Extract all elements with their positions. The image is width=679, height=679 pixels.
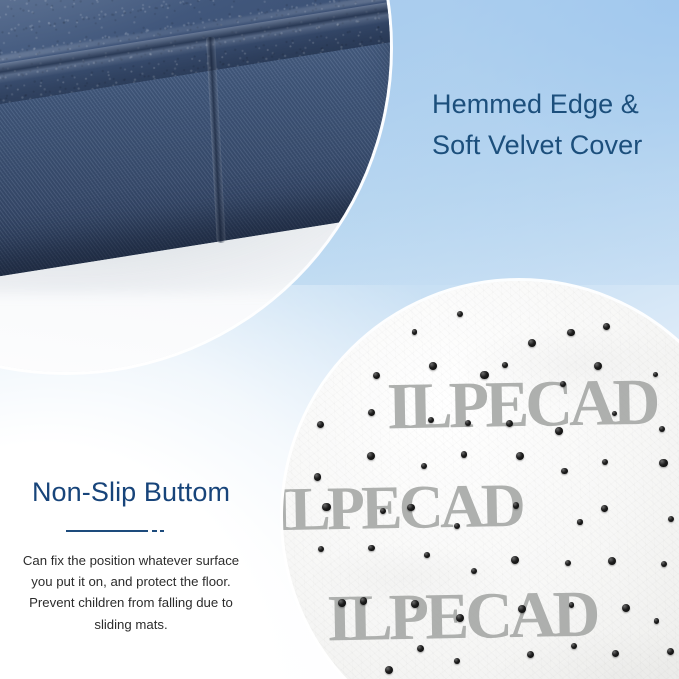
grip-dot: [367, 452, 375, 460]
description-line: Can fix the position whatever surface: [0, 550, 262, 571]
grip-dot: [661, 561, 667, 567]
feature-headline-hemmed-edge: Hemmed Edge & Soft Velvet Cover: [432, 84, 679, 166]
mat-watermark-logo: ILPECAD: [283, 471, 523, 546]
grip-dot: [314, 473, 322, 481]
panel-description: Can fix the position whatever surface yo…: [0, 550, 262, 636]
divider-line: [66, 530, 148, 532]
grip-dot: [338, 599, 346, 607]
grip-dot: [513, 502, 519, 508]
grip-dot: [471, 568, 477, 574]
grip-dot: [421, 463, 427, 469]
grip-dot: [667, 648, 674, 655]
grip-dot: [368, 545, 375, 552]
grip-dot: [480, 371, 488, 379]
grip-dot: [461, 451, 467, 457]
product-feature-panel: ILPECAD ILPECAD ILPECAD Hemmed Edge & So…: [0, 0, 679, 679]
grip-dot: [567, 329, 574, 336]
grip-dot: [454, 658, 460, 664]
grip-dot: [456, 614, 464, 622]
divider: [0, 521, 262, 543]
grip-dot: [454, 523, 460, 529]
grip-dot: [322, 503, 330, 511]
description-line: you put it on, and protect the floor.: [0, 571, 262, 592]
grip-dot: [577, 519, 583, 525]
grip-dot: [569, 602, 575, 608]
grip-dot: [659, 426, 665, 432]
grip-dot: [465, 420, 471, 426]
panel-title: Non-Slip Buttom: [0, 478, 262, 508]
divider-dash: [152, 530, 157, 532]
headline-line-1: Hemmed Edge &: [432, 84, 679, 125]
grip-dot: [571, 643, 577, 649]
grip-dot: [424, 552, 430, 558]
description-line: Prevent children from falling due to: [0, 592, 262, 613]
headline-line-2: Soft Velvet Cover: [432, 125, 679, 166]
grip-dot: [502, 362, 508, 368]
divider-dash: [160, 530, 164, 532]
grip-dot: [518, 605, 526, 613]
non-slip-mat-photo: ILPECAD ILPECAD ILPECAD: [283, 281, 679, 679]
grip-dot: [601, 505, 608, 512]
grip-dot: [373, 372, 380, 379]
grip-dot: [603, 323, 610, 330]
grip-dot: [511, 556, 519, 564]
grip-dot: [528, 339, 536, 347]
grip-dot: [429, 362, 437, 370]
grip-dot: [555, 427, 563, 435]
grip-dot: [622, 604, 630, 612]
mat-watermark-logo: ILPECAD: [386, 365, 657, 446]
grip-dot: [411, 600, 419, 608]
grip-dot: [561, 468, 568, 475]
grip-dot: [659, 459, 668, 468]
grip-dot: [412, 329, 418, 335]
description-line: sliding mats.: [0, 614, 262, 635]
grip-dot: [385, 666, 393, 674]
feature-panel-non-slip: Non-Slip Buttom Can fix the position wha…: [0, 478, 262, 635]
grip-dot: [608, 557, 616, 565]
